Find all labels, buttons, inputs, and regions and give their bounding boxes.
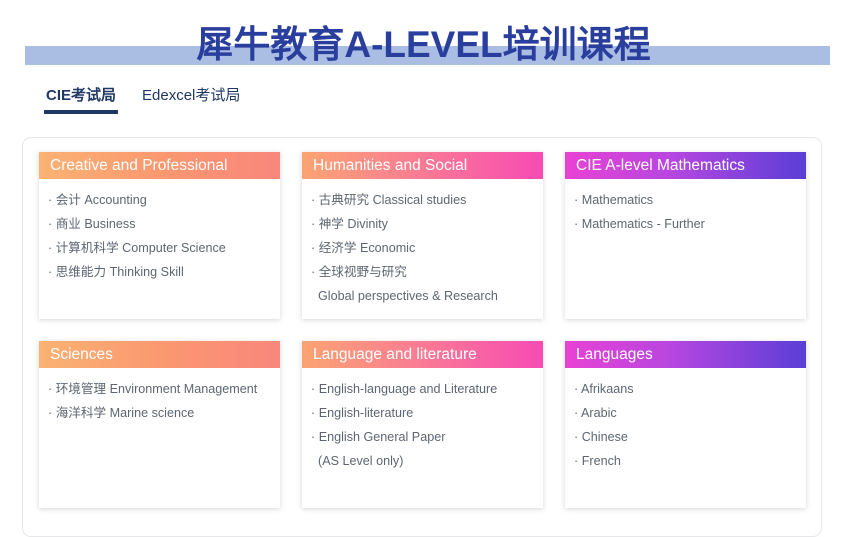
course-card: Creative and Professional· 会计 Accounting… bbox=[39, 152, 280, 319]
course-item-label: Mathematics - Further bbox=[582, 217, 705, 231]
bullet-icon: · bbox=[311, 193, 319, 207]
course-card-title: Humanities and Social bbox=[302, 152, 543, 179]
course-item[interactable]: · 古典研究 Classical studies bbox=[311, 188, 535, 212]
bullet-icon: · bbox=[311, 217, 319, 231]
course-item-label: Chinese bbox=[582, 430, 628, 444]
course-item[interactable]: · Arabic bbox=[574, 401, 798, 425]
bullet-icon: · bbox=[48, 193, 56, 207]
course-item-label: English-literature bbox=[319, 406, 414, 420]
bullet-icon: · bbox=[574, 430, 582, 444]
course-card-grid: Creative and Professional· 会计 Accounting… bbox=[39, 152, 807, 508]
course-item-label: Mathematics bbox=[582, 193, 653, 207]
course-item-label: Arabic bbox=[581, 406, 617, 420]
course-item[interactable]: · 全球视野与研究 bbox=[311, 260, 535, 284]
bullet-icon: · bbox=[48, 406, 56, 420]
course-item[interactable]: · Mathematics - Further bbox=[574, 212, 798, 236]
course-item[interactable]: · Mathematics bbox=[574, 188, 798, 212]
course-item-label: 古典研究 Classical studies bbox=[319, 193, 467, 207]
course-item[interactable]: · 会计 Accounting bbox=[48, 188, 272, 212]
course-item[interactable]: · 商业 Business bbox=[48, 212, 272, 236]
page-header: 犀牛教育A-LEVEL培训课程 bbox=[0, 0, 847, 72]
course-item-label: English General Paper bbox=[319, 430, 446, 444]
course-panel: Creative and Professional· 会计 Accounting… bbox=[22, 137, 822, 537]
exam-board-tabs: CIE考试局Edexcel考试局 bbox=[44, 84, 847, 118]
course-card-title: Creative and Professional bbox=[39, 152, 280, 179]
course-item[interactable]: · English-literature bbox=[311, 401, 535, 425]
course-list: · Mathematics· Mathematics - Further bbox=[565, 179, 806, 319]
bullet-icon: · bbox=[311, 406, 319, 420]
bullet-icon: · bbox=[48, 241, 56, 255]
course-item[interactable]: · English General Paper bbox=[311, 425, 535, 449]
course-item[interactable]: · Afrikaans bbox=[574, 377, 798, 401]
course-item-label: 思维能力 Thinking Skill bbox=[56, 265, 184, 279]
bullet-icon: · bbox=[48, 382, 56, 396]
bullet-icon: · bbox=[574, 454, 582, 468]
bullet-icon: · bbox=[574, 382, 581, 396]
course-item[interactable]: · 环境管理 Environment Management bbox=[48, 377, 272, 401]
tab-cie[interactable]: CIE考试局 bbox=[44, 84, 118, 114]
course-item[interactable]: · Chinese bbox=[574, 425, 798, 449]
course-item-label: 计算机科学 Computer Science bbox=[56, 241, 226, 255]
bullet-icon: · bbox=[311, 382, 319, 396]
bullet-icon: · bbox=[574, 217, 582, 231]
course-item-label: 环境管理 Environment Management bbox=[56, 382, 258, 396]
bullet-icon: · bbox=[311, 430, 319, 444]
bullet-icon: · bbox=[311, 241, 319, 255]
course-item[interactable]: · 经济学 Economic bbox=[311, 236, 535, 260]
course-item-label: 海洋科学 Marine science bbox=[56, 406, 195, 420]
course-item[interactable]: · French bbox=[574, 449, 798, 473]
bullet-icon: · bbox=[574, 406, 581, 420]
page-title: 犀牛教育A-LEVEL培训课程 bbox=[0, 14, 847, 68]
course-card: Language and literature· English-languag… bbox=[302, 341, 543, 508]
course-card: Sciences· 环境管理 Environment Management· 海… bbox=[39, 341, 280, 508]
course-item-label: 商业 Business bbox=[56, 217, 136, 231]
course-item-label: 会计 Accounting bbox=[56, 193, 147, 207]
course-item-label: Global perspectives & Research bbox=[318, 289, 498, 303]
course-item-label: (AS Level only) bbox=[318, 454, 403, 468]
course-card: Humanities and Social· 古典研究 Classical st… bbox=[302, 152, 543, 319]
bullet-icon: · bbox=[48, 265, 56, 279]
course-list: · English-language and Literature· Engli… bbox=[302, 368, 543, 508]
bullet-icon: · bbox=[48, 217, 56, 231]
course-item-label: Afrikaans bbox=[581, 382, 634, 396]
course-item[interactable]: Global perspectives & Research bbox=[311, 284, 535, 308]
course-list: · 古典研究 Classical studies· 神学 Divinity· 经… bbox=[302, 179, 543, 319]
course-item[interactable]: · 思维能力 Thinking Skill bbox=[48, 260, 272, 284]
course-card-title: CIE A-level Mathematics bbox=[565, 152, 806, 179]
course-card: Languages· Afrikaans· Arabic· Chinese· F… bbox=[565, 341, 806, 508]
course-card: CIE A-level Mathematics· Mathematics· Ma… bbox=[565, 152, 806, 319]
tab-edexcel[interactable]: Edexcel考试局 bbox=[140, 84, 242, 114]
course-card-title: Language and literature bbox=[302, 341, 543, 368]
course-item-label: 经济学 Economic bbox=[319, 241, 416, 255]
course-card-title: Languages bbox=[565, 341, 806, 368]
bullet-icon: · bbox=[574, 193, 582, 207]
course-item[interactable]: (AS Level only) bbox=[311, 449, 535, 473]
course-item[interactable]: · 计算机科学 Computer Science bbox=[48, 236, 272, 260]
course-list: · 环境管理 Environment Management· 海洋科学 Mari… bbox=[39, 368, 280, 508]
course-list: · 会计 Accounting· 商业 Business· 计算机科学 Comp… bbox=[39, 179, 280, 319]
course-item[interactable]: · 神学 Divinity bbox=[311, 212, 535, 236]
bullet-icon: · bbox=[311, 265, 319, 279]
course-item-label: 神学 Divinity bbox=[319, 217, 388, 231]
course-item[interactable]: · 海洋科学 Marine science bbox=[48, 401, 272, 425]
course-item[interactable]: · English-language and Literature bbox=[311, 377, 535, 401]
course-card-title: Sciences bbox=[39, 341, 280, 368]
course-item-label: English-language and Literature bbox=[319, 382, 498, 396]
course-list: · Afrikaans· Arabic· Chinese· French bbox=[565, 368, 806, 508]
course-item-label: French bbox=[582, 454, 621, 468]
course-item-label: 全球视野与研究 bbox=[319, 265, 407, 279]
